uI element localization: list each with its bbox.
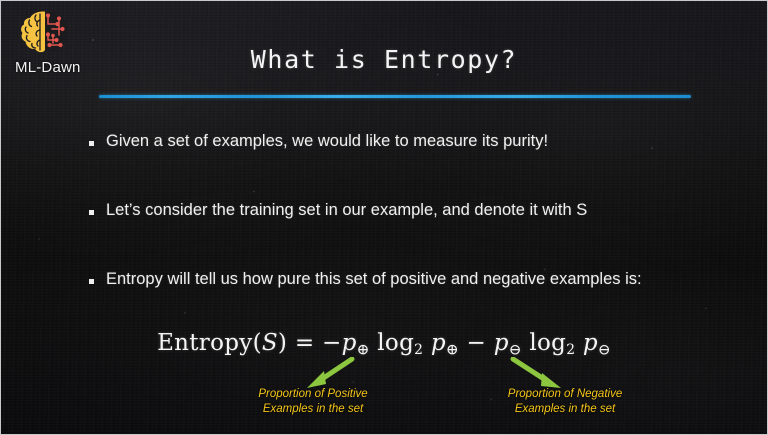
formula-log-base-1: 2 [414, 342, 423, 358]
list-item: Given a set of examples, we would like t… [89, 132, 709, 201]
bullet-list: Given a set of examples, we would like t… [89, 132, 709, 339]
list-item: Let’s consider the training set in our e… [89, 201, 709, 270]
negative-annotation-line-1: Proportion of Negative [475, 387, 655, 402]
negative-annotation-arrow-icon [509, 357, 571, 391]
negative-annotation-line-2: Examples in the set [475, 402, 655, 417]
formula-paren-close: ) [278, 330, 287, 356]
circled-plus-icon: ⊕ [446, 341, 459, 359]
circled-plus-icon: ⊕ [357, 341, 370, 359]
title-divider [99, 95, 691, 98]
formula-p-negative-2: p [583, 330, 598, 356]
formula-minus-second: − [466, 330, 486, 356]
formula-log-base-2: 2 [566, 342, 575, 358]
formula-minus-first: − [322, 330, 342, 356]
formula-log-1: log [377, 330, 414, 356]
square-bullet-icon [89, 210, 94, 215]
formula-p-positive-2: p [431, 330, 446, 356]
positive-annotation-line-2: Examples in the set [223, 402, 403, 417]
positive-annotation-line-1: Proportion of Positive [223, 387, 403, 402]
bullet-text: Entropy will tell us how pure this set o… [106, 270, 642, 290]
bullet-text: Given a set of examples, we would like t… [106, 132, 548, 152]
circled-minus-icon: ⊖ [509, 341, 522, 359]
page-title: What is Entropy? [1, 45, 767, 74]
formula-p-negative-1: p [494, 330, 509, 356]
circled-minus-icon: ⊖ [598, 341, 611, 359]
formula-argument: S [262, 330, 278, 356]
formula-equals: = [295, 330, 315, 356]
formula-function-name: Entropy [157, 330, 253, 356]
square-bullet-icon [89, 141, 94, 146]
slide-canvas: ML-Dawn What is Entropy? Given a set of … [0, 0, 768, 435]
square-bullet-icon [89, 279, 94, 284]
negative-annotation: Proportion of Negative Examples in the s… [475, 387, 655, 416]
formula-log-2: log [529, 330, 566, 356]
formula-p-positive-1: p [342, 330, 357, 356]
positive-annotation: Proportion of Positive Examples in the s… [223, 387, 403, 416]
positive-annotation-arrow-icon [297, 357, 355, 391]
bullet-text: Let’s consider the training set in our e… [106, 201, 587, 221]
list-item: Entropy will tell us how pure this set o… [89, 270, 709, 339]
formula-paren-open: ( [253, 330, 262, 356]
entropy-formula: Entropy(S) = −p⊕ log2 p⊕ − p⊖ log2 p⊖ [1, 330, 767, 359]
